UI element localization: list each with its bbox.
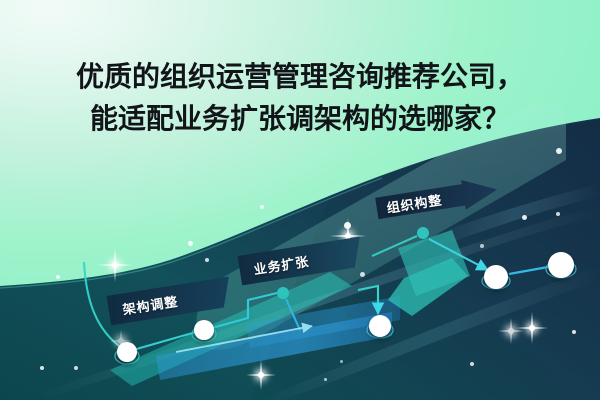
page-title-line-1: 优质的组织运营管理咨询推荐公司， [0,56,600,98]
poster-canvas: 优质的组织运营管理咨询推荐公司， 能适配业务扩张调架构的选哪家？ 架构调整 业务… [0,0,600,400]
node-1 [117,342,137,362]
node-2 [194,320,214,340]
page-title: 优质的组织运营管理咨询推荐公司， 能适配业务扩张调架构的选哪家？ [0,56,600,140]
page-title-line-2: 能适配业务扩张调架构的选哪家？ [0,98,600,140]
node-5 [417,227,429,239]
node-6 [484,265,508,289]
node-4 [369,315,391,337]
node-3 [277,287,289,299]
node-7 [548,252,574,278]
